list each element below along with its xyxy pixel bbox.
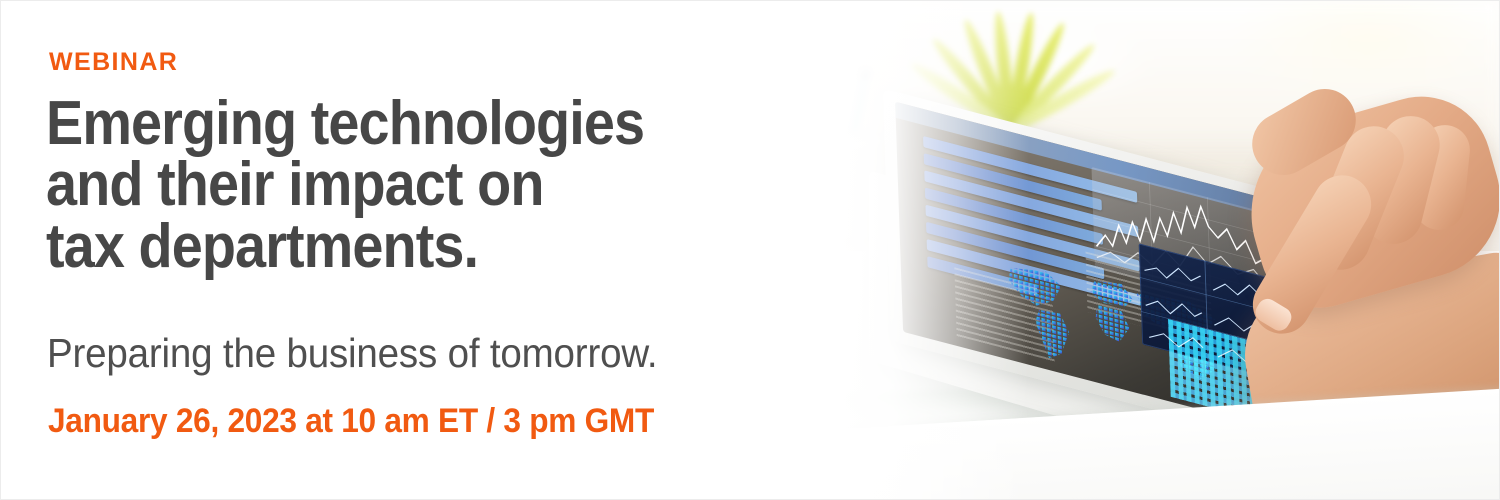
hero-photo (769, 1, 1499, 500)
event-date-time: January 26, 2023 at 10 am ET / 3 pm GMT (48, 402, 654, 441)
copy-block: WEBINAR Emerging technologies and their … (49, 1, 839, 499)
webinar-banner: WEBINAR Emerging technologies and their … (0, 0, 1500, 500)
eyebrow-label: WEBINAR (49, 48, 178, 77)
page-title: Emerging technologies and their impact o… (46, 93, 644, 277)
subtitle: Preparing the business of tomorrow. (47, 330, 657, 377)
